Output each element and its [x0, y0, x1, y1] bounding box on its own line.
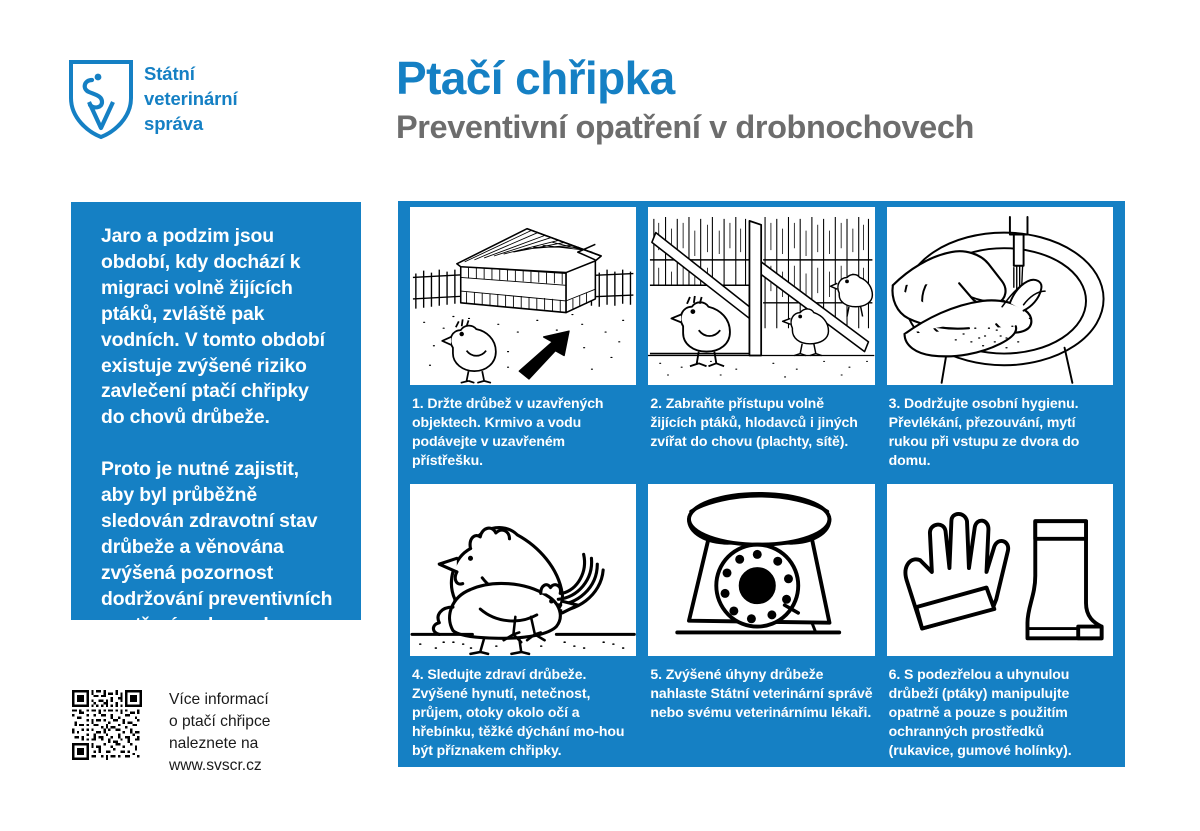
logo-line-2: veterinární: [144, 87, 238, 112]
panel-caption-5: 5. Zvýšené úhyny drůbeže nahlaste Státní…: [648, 656, 874, 722]
panel-step-3: 3. Dodržujte osobní hygienu. Převlékání,…: [881, 207, 1119, 484]
title-block: Ptačí chřipka Preventivní opatření v dro…: [396, 55, 1156, 144]
poultry-house-fence-icon: [410, 207, 636, 385]
logo-line-1: Státní: [144, 62, 238, 87]
intro-paragraph-1: Jaro a podzim jsou období, kdy dochází k…: [101, 224, 337, 431]
organization-name: Státní veterinární správa: [144, 62, 238, 136]
page-subtitle: Preventivní opatření v drobnochovech: [396, 110, 1156, 144]
panel-caption-4: 4. Sledujte zdraví drůbeže. Zvýšené hynu…: [410, 656, 636, 760]
organization-logo: Státní veterinární správa: [68, 58, 318, 144]
footer-block: Více informací o ptačí chřipce naleznete…: [72, 690, 372, 785]
qr-code-icon: [72, 690, 142, 760]
panel-caption-1: 1. Držte drůbež v uzavřených objektech. …: [410, 385, 636, 470]
page-title: Ptačí chřipka: [396, 55, 1156, 102]
prevention-steps-grid: 1. Držte drůbež v uzavřených objektech. …: [398, 201, 1125, 767]
footer-website-url: www.svscr.cz: [169, 755, 270, 777]
footer-line-1: Více informací: [169, 689, 270, 711]
panel-step-2: 2. Zabraňte přístupu volně žijících pták…: [642, 207, 880, 484]
panel-caption-6: 6. S podezřelou a uhynulou drůbeží (pták…: [887, 656, 1113, 760]
shield-sv-monogram-icon: [68, 58, 134, 140]
glove-and-rubber-boot-icon: [887, 484, 1113, 656]
footer-line-3: naleznete na: [169, 733, 270, 755]
panel-step-6: 6. S podezřelou a uhynulou drůbeží (pták…: [881, 484, 1119, 761]
intro-paragraph-2: Proto je nutné zajistit, aby byl průběžn…: [101, 457, 337, 638]
rooster-and-hen-icon: [410, 484, 636, 656]
panel-step-1: 1. Držte drůbež v uzavřených objektech. …: [404, 207, 642, 484]
more-info-text: Více informací o ptačí chřipce naleznete…: [169, 689, 270, 778]
panel-caption-3: 3. Dodržujte osobní hygienu. Převlékání,…: [887, 385, 1113, 470]
rotary-telephone-icon: [648, 484, 874, 656]
poster-header: Státní veterinární správa Ptačí chřipka …: [0, 0, 1200, 180]
fence-barrier-wild-birds-icon: [648, 207, 874, 385]
footer-line-2: o ptačí chřipce: [169, 711, 270, 733]
intro-text-box: Jaro a podzim jsou období, kdy dochází k…: [71, 202, 361, 620]
handwashing-sink-icon: [887, 207, 1113, 385]
panel-caption-2: 2. Zabraňte přístupu volně žijících pták…: [648, 385, 874, 451]
panel-step-4: 4. Sledujte zdraví drůbeže. Zvýšené hynu…: [404, 484, 642, 761]
logo-line-3: správa: [144, 112, 238, 137]
panel-step-5: 5. Zvýšené úhyny drůbeže nahlaste Státní…: [642, 484, 880, 761]
